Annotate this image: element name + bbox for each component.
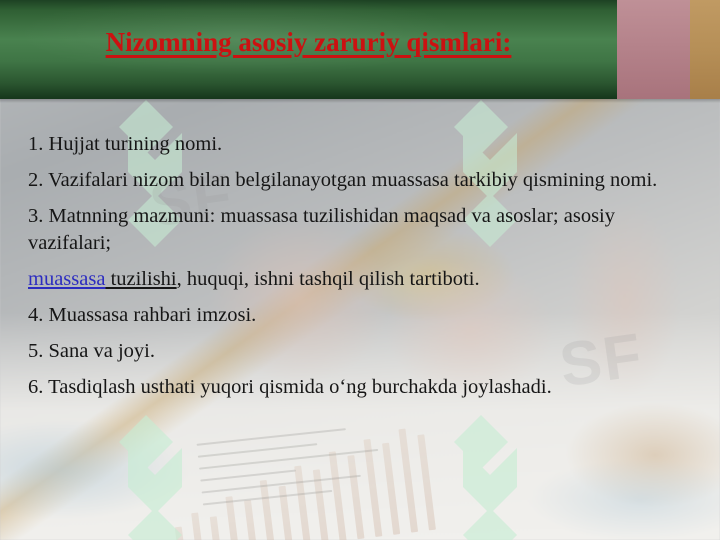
list-item-underlined-text: tuzilishi bbox=[105, 268, 176, 290]
list-item: 5. Sana va joyi. bbox=[28, 338, 688, 365]
accent-band-tan bbox=[690, 0, 720, 99]
presentation-slide: SF SF SF Nizomning asosiy zaruriy qismla… bbox=[0, 0, 720, 540]
accent-band-rose bbox=[617, 0, 690, 99]
list-item-text: , huquqi, ishni tashqil qilish tartiboti… bbox=[177, 268, 480, 290]
list-item: 1. Hujjat turining nomi. bbox=[28, 131, 688, 158]
hyperlink-muassasa[interactable]: muassasa bbox=[28, 268, 105, 290]
list-item: 4. Muassasa rahbari imzosi. bbox=[28, 302, 688, 329]
slide-title: Nizomning asosiy zaruriy qismlari: bbox=[0, 27, 617, 58]
banner-shadow bbox=[0, 99, 720, 103]
list-item-with-link: muassasa tuzilishi, huquqi, ishni tashqi… bbox=[28, 266, 688, 293]
list-item: 3. Matnning mazmuni: muassasa tuzilishid… bbox=[28, 203, 688, 257]
list-item: 2. Vazifalari nizom bilan belgilanayotga… bbox=[28, 167, 688, 194]
list-item: 6. Tasdiqlash usthati yuqori qismida o‘n… bbox=[28, 374, 688, 401]
slide-body: 1. Hujjat turining nomi. 2. Vazifalari n… bbox=[28, 131, 688, 401]
